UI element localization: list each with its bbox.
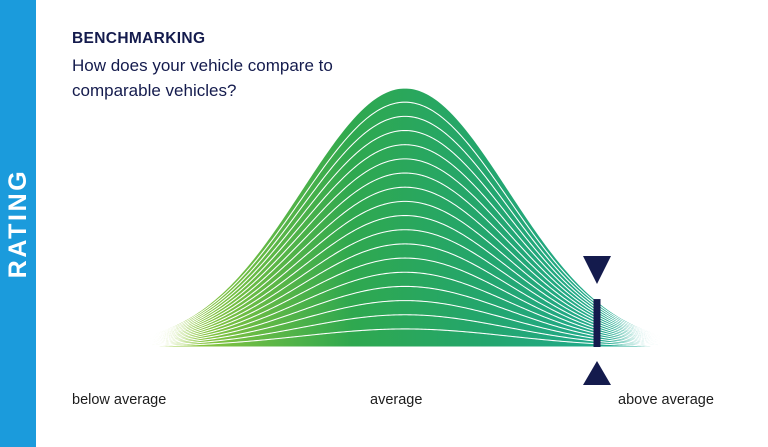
axis-label-average: average	[370, 392, 422, 408]
marker-up-triangle-icon	[583, 361, 611, 385]
distribution-chart	[0, 0, 768, 447]
marker-bar	[594, 299, 601, 347]
axis-label-above-average: above average	[618, 392, 714, 408]
benchmarking-slide: RATING BENCHMARKING How does your vehicl…	[0, 0, 768, 447]
axis-label-below-average: below average	[72, 392, 166, 408]
marker-down-triangle-icon	[583, 256, 611, 284]
distribution-bands	[72, 88, 738, 347]
